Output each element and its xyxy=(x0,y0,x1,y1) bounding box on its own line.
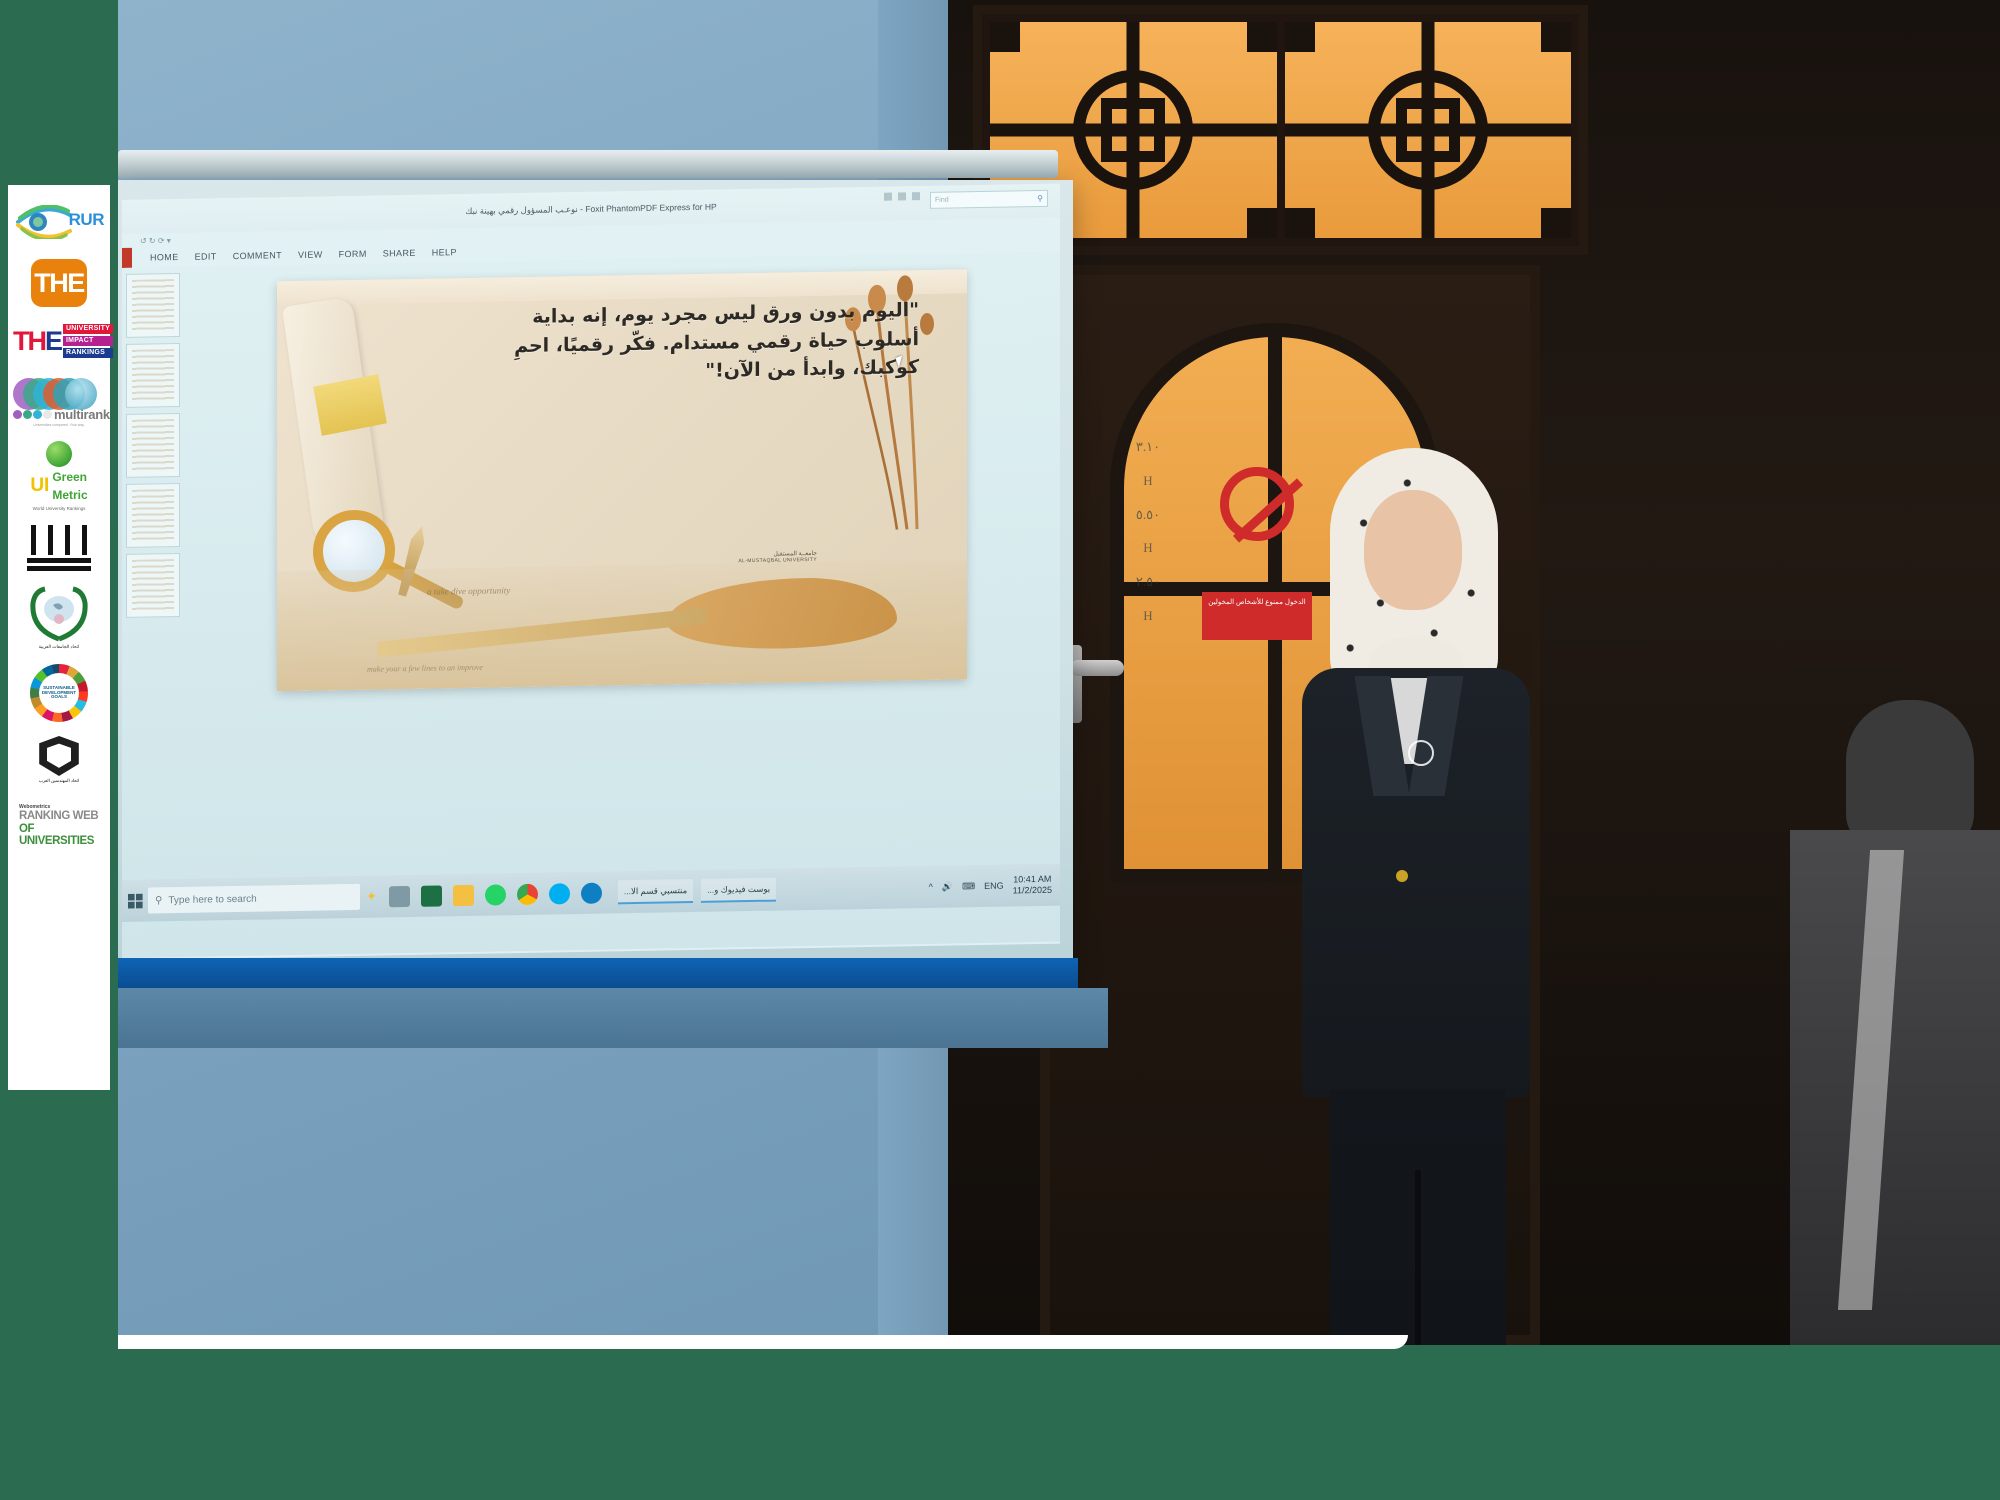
presenter-trousers xyxy=(1330,1090,1506,1345)
clock-date: 11/2/2025 xyxy=(1013,885,1052,896)
menu-help[interactable]: HELP xyxy=(432,247,457,257)
rur-label: RUR xyxy=(69,210,104,230)
taskbar-open-windows[interactable]: منتسبي قسم الا... بوست فيديوك و... xyxy=(618,878,776,905)
excel-icon[interactable] xyxy=(421,885,442,906)
banner-notch xyxy=(118,1335,1408,1349)
skype-icon[interactable] xyxy=(549,883,570,904)
search-placeholder: Type here to search xyxy=(168,893,256,906)
greenmetric-green: Green xyxy=(52,470,87,484)
menu-form[interactable]: FORM xyxy=(339,249,367,259)
note-5: ٢.٥٠ xyxy=(1078,565,1218,599)
search-icon: ⚲ xyxy=(155,895,162,906)
windows-start-icon[interactable] xyxy=(122,880,148,922)
rankings-logo-card: RUR THE THE UNIVERSITY IMPACT RANKINGS xyxy=(8,185,110,1090)
rankings-rail: RUR THE THE UNIVERSITY IMPACT RANKINGS xyxy=(0,0,118,1345)
page-thumbnail[interactable] xyxy=(126,483,180,548)
the-impact-line-3: RANKINGS xyxy=(63,348,113,358)
fae-badge-icon xyxy=(37,736,81,776)
the-impact-mark: THE xyxy=(13,321,61,361)
note-2: H xyxy=(1078,464,1218,498)
sdg-wheel-logo: SUSTAINABLE DEVELOPMENT GOALS xyxy=(13,664,105,722)
presenter-face xyxy=(1364,490,1462,610)
foxit-phantompdf-window[interactable]: نوعـب المسؤول رقمي بهينة نبك - Foxit Pha… xyxy=(122,184,1060,960)
quick-access-icons[interactable]: ↺ ↻ ⟳ ▾ xyxy=(140,236,171,246)
edge-icon[interactable] xyxy=(581,882,602,903)
audience-person xyxy=(1790,700,2000,1345)
taskbar-item-2[interactable]: بوست فيديوك و... xyxy=(701,878,776,903)
find-input[interactable]: Find ⚲ xyxy=(930,190,1048,209)
projection-screen-base xyxy=(118,988,1108,1048)
document-area: "اليوم بدون ورق ليس مجرد يوم، إنه بداية … xyxy=(122,252,1060,958)
slide-quote-text: "اليوم بدون ورق ليس مجرد يوم، إنه بداية … xyxy=(499,296,919,389)
minimize-button[interactable] xyxy=(884,193,892,201)
chevron-up-icon[interactable]: ^ xyxy=(929,882,933,892)
transom-pane-right xyxy=(1285,22,1572,238)
file-explorer-icon[interactable] xyxy=(453,884,474,905)
sdg-label: SUSTAINABLE DEVELOPMENT GOALS xyxy=(39,686,79,701)
pdf-page: "اليوم بدون ورق ليس مجرد يوم، إنه بداية … xyxy=(277,269,967,691)
federation-of-arab-engineers-logo: اتحاد المهندسين العرب xyxy=(13,736,105,790)
language-indicator[interactable]: ENG xyxy=(984,881,1004,891)
webometrics-line-2: OF UNIVERSITIES xyxy=(19,823,105,848)
association-of-arab-universities-logo: اتحاد الجامعات العربية xyxy=(13,585,105,650)
menu-view[interactable]: VIEW xyxy=(298,249,323,259)
presenter-brooch xyxy=(1408,740,1434,766)
the-impact-rankings-logo: THE UNIVERSITY IMPACT RANKINGS xyxy=(13,321,105,361)
find-placeholder: Find xyxy=(935,197,949,204)
menu-home[interactable]: HOME xyxy=(150,252,179,262)
screenshot-root: RUR THE THE UNIVERSITY IMPACT RANKINGS xyxy=(0,0,2000,1500)
multirank-circles-icon xyxy=(13,375,105,413)
rur-logo: RUR xyxy=(13,199,105,245)
clock-time: 10:41 AM xyxy=(1013,874,1051,885)
volume-icon[interactable]: 🔊 xyxy=(942,881,953,892)
umultirank-logo: multirank Universities compared. Your wa… xyxy=(13,375,105,427)
slide-credit: جامعــة المستقبل AL-MUSTAQBAL UNIVERSITY xyxy=(738,551,817,565)
page-thumbnail[interactable] xyxy=(126,343,180,408)
fae-caption: اتحاد المهندسين العرب xyxy=(39,778,79,784)
temple-icon xyxy=(27,525,91,571)
menu-share[interactable]: SHARE xyxy=(383,248,416,259)
the-mark: THE xyxy=(31,259,87,307)
file-tab[interactable] xyxy=(122,248,132,268)
rur-eye-icon xyxy=(16,205,72,239)
page-thumbnail[interactable] xyxy=(126,413,180,478)
note-3: ٥.٥٠ xyxy=(1078,498,1218,532)
chrome-icon[interactable] xyxy=(517,883,538,904)
system-tray[interactable]: ^ 🔊 ⌨ ENG 10:41 AM 11/2/2025 xyxy=(929,874,1060,898)
wreath-icon xyxy=(23,585,95,643)
cortana-sparkle-icon[interactable]: ✦ xyxy=(366,889,377,905)
the-impact-line-1: UNIVERSITY xyxy=(63,324,113,334)
whatsapp-icon[interactable] xyxy=(485,884,506,905)
audience-person-head xyxy=(1846,700,1974,850)
note-6: H xyxy=(1078,599,1218,633)
keyboard-icon[interactable]: ⌨ xyxy=(962,881,975,892)
greenmetric-globe-icon xyxy=(46,441,72,467)
greenmetric-sub: World University Rankings xyxy=(13,506,105,511)
university-banner: WWW.UOMUS.EDU.IQ 6163 الأولـــى على الجا… xyxy=(0,1345,2000,1500)
webometrics-line-1: RANKING WEB xyxy=(19,810,105,823)
note-4: H xyxy=(1078,531,1218,565)
greenmetric-ui: UI xyxy=(30,477,49,494)
times-higher-education-logo: THE xyxy=(13,259,105,307)
page-thumbnail[interactable] xyxy=(126,553,180,618)
search-input[interactable]: ⚲ Type here to search xyxy=(148,884,360,914)
menu-comment[interactable]: COMMENT xyxy=(233,250,282,261)
multirank-sub: Universities compared. Your way. xyxy=(13,423,105,427)
classroom-photo: الدخول ممنوع للأشخاص المخولين ٣.١٠ H ٥.٥… xyxy=(118,0,2000,1345)
menu-edit[interactable]: EDIT xyxy=(195,251,217,261)
greenmetric-metric: Metric xyxy=(52,488,87,502)
presenter-button xyxy=(1396,870,1408,882)
search-icon[interactable]: ⚲ xyxy=(1037,194,1043,203)
whiteboard-notes: ٣.١٠ H ٥.٥٠ H ٢.٥٠ H xyxy=(1078,430,1218,850)
maximize-button[interactable] xyxy=(898,192,906,200)
taskbar-pinned-icons[interactable] xyxy=(389,882,602,907)
window-title: نوعـب المسؤول رقمي بهينة نبك - Foxit Pha… xyxy=(465,201,716,216)
window-controls[interactable] xyxy=(884,192,920,201)
page-script-line-1: a take dive opportunity xyxy=(427,585,510,596)
accreditation-temple-logo xyxy=(13,525,105,571)
projection-screen-bottom-bar xyxy=(118,958,1078,988)
ui-greenmetric-logo: UI Green Metric World University Ranking… xyxy=(13,441,105,511)
presenter-person xyxy=(1268,440,1568,1345)
close-button[interactable] xyxy=(912,192,920,200)
task-view-icon[interactable] xyxy=(389,885,410,906)
the-impact-line-2: IMPACT xyxy=(63,336,113,346)
sdg-wheel-icon: SUSTAINABLE DEVELOPMENT GOALS xyxy=(30,664,88,722)
taskbar-item-1[interactable]: منتسبي قسم الا... xyxy=(618,879,693,904)
note-1: ٣.١٠ xyxy=(1078,430,1218,464)
clock[interactable]: 10:41 AM 11/2/2025 xyxy=(1013,874,1052,896)
page-thumbnail[interactable] xyxy=(126,273,180,338)
page-thumbnails-panel[interactable] xyxy=(122,267,184,958)
projection-screen-roller xyxy=(118,150,1058,178)
webometrics-logo: Webometrics RANKING WEB OF UNIVERSITIES xyxy=(13,804,105,848)
arab-universities-caption: اتحاد الجامعات العربية xyxy=(39,644,80,650)
